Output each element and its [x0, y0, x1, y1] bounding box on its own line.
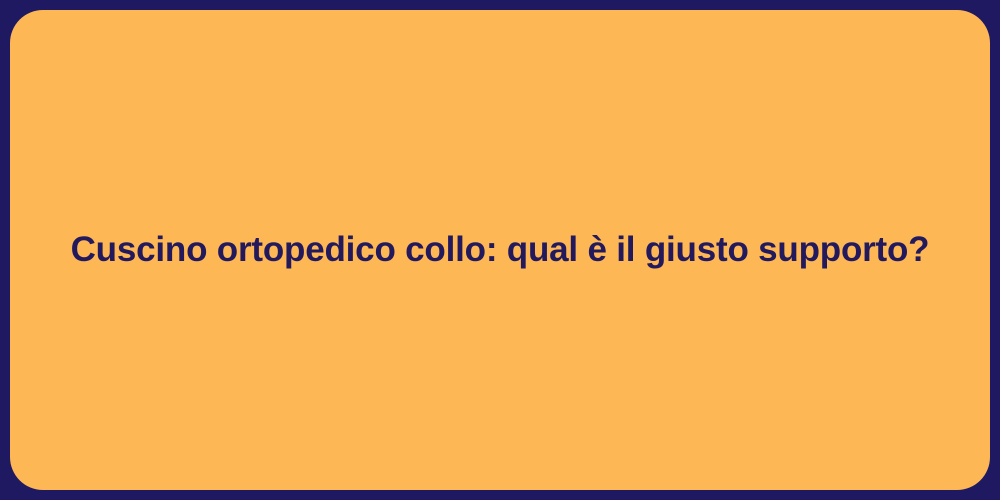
content-card: Cuscino ortopedico collo: qual è il gius…	[10, 10, 990, 490]
page-frame: Cuscino ortopedico collo: qual è il gius…	[0, 0, 1000, 500]
page-title: Cuscino ortopedico collo: qual è il gius…	[31, 228, 970, 272]
